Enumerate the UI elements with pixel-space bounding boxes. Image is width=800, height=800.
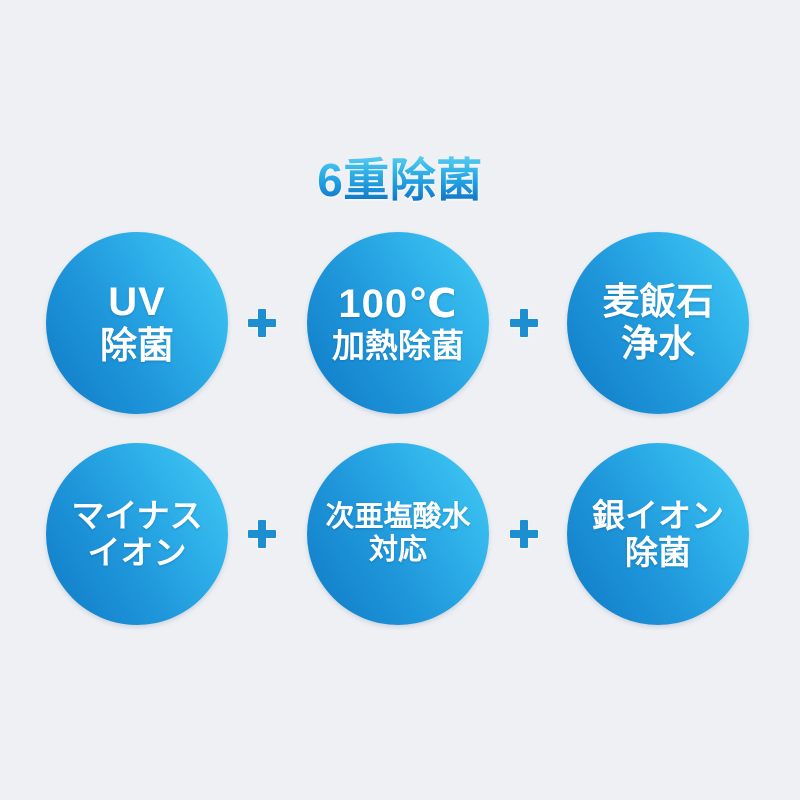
feature-label-line2: 浄水 [621,323,695,365]
infographic-canvas: 6重除菌 UV除菌100℃加熱除菌麦飯石浄水マイナスイオン次亜塩酸水対応銀イオン… [0,0,800,800]
feature-circle-silver-ion-sterilization[interactable]: 銀イオン除菌 [567,443,749,625]
feature-label-line2: 加熱除菌 [332,327,464,364]
feature-label-line1: 100℃ [338,282,457,327]
feature-label-line1: マイナス [71,497,202,534]
feature-label-line2: 除菌 [100,325,174,367]
plus-icon [248,520,276,548]
feature-circle-negative-ion[interactable]: マイナスイオン [46,443,228,625]
feature-label-line2: イオン [88,534,187,571]
feature-label-line1: UV [108,280,166,325]
plus-icon [510,309,538,337]
feature-circle-maifanite-water-purification[interactable]: 麦飯石浄水 [567,232,749,414]
feature-circle-uv-sterilization[interactable]: UV除菌 [46,232,228,414]
feature-circle-heat-sterilization[interactable]: 100℃加熱除菌 [307,232,489,414]
feature-circle-hypochlorous-acid-water[interactable]: 次亜塩酸水対応 [307,443,489,625]
feature-label-line2: 除菌 [625,534,691,571]
feature-label-line2: 対応 [369,534,427,567]
plus-icon [510,520,538,548]
feature-label-line1: 次亜塩酸水 [325,501,470,534]
feature-label-line1: 麦飯石 [603,281,714,323]
plus-icon [248,309,276,337]
feature-label-line1: 銀イオン [592,497,724,534]
feature-circle-grid: UV除菌100℃加熱除菌麦飯石浄水マイナスイオン次亜塩酸水対応銀イオン除菌 [0,0,800,800]
